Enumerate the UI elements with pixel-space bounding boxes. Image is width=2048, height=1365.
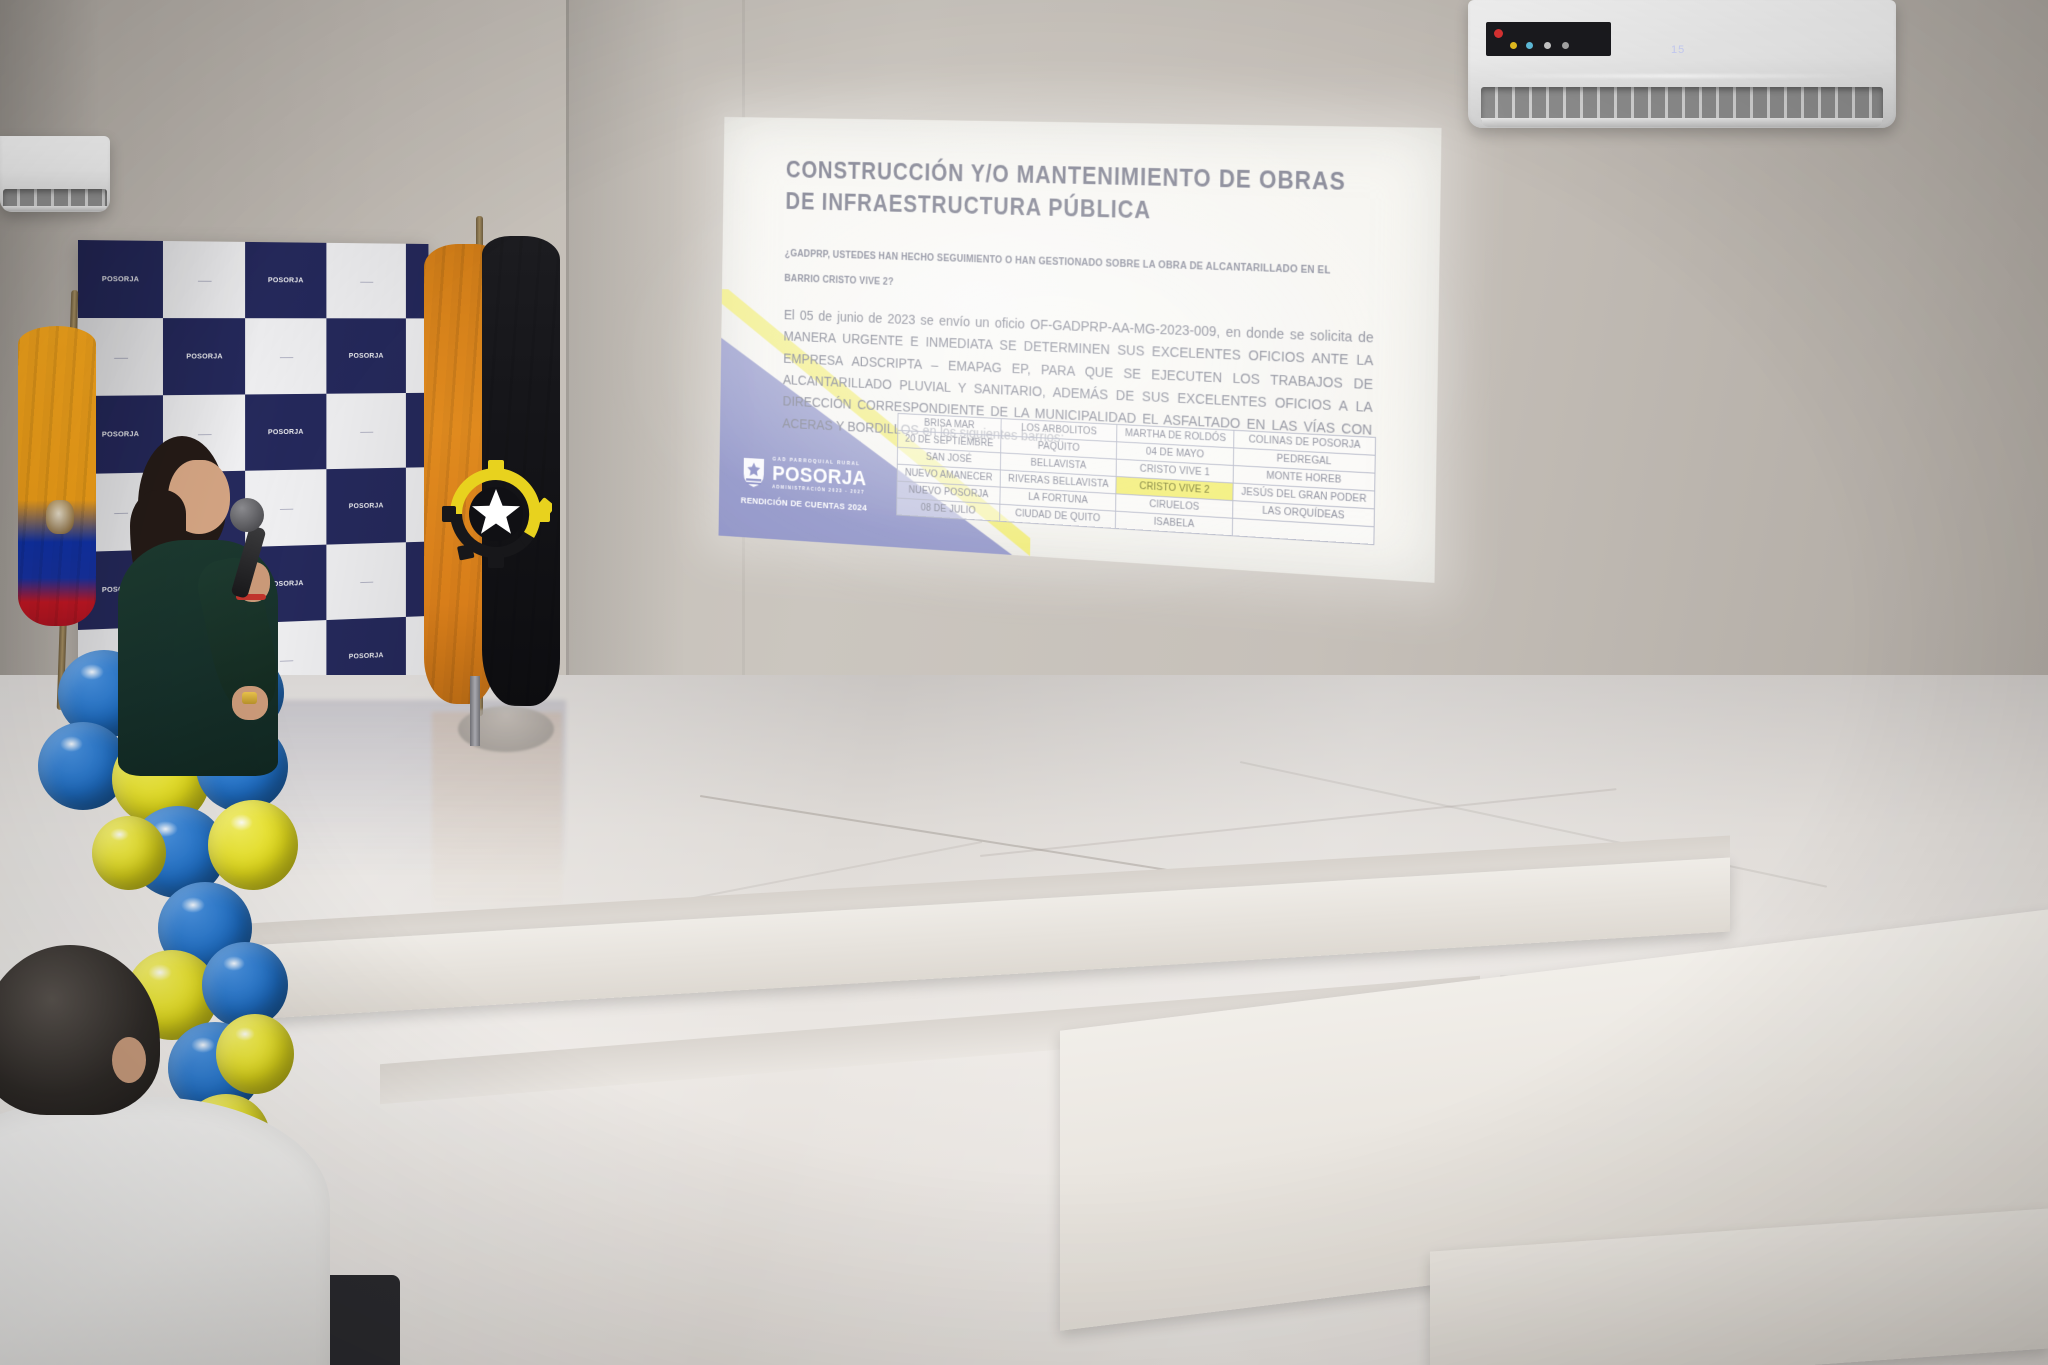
ecuador-coat-of-arms <box>46 500 74 534</box>
audience-member <box>0 945 380 1365</box>
ac-brand-badge <box>1486 22 1611 56</box>
slide-question: ¿GADPRP, USTEDES HAN HECHO SEGUIMIENTO O… <box>784 242 1333 311</box>
presentation-slide: GAD PARROQUIAL RURAL POSORJA ADMINISTRAC… <box>718 117 1441 583</box>
flag-folds <box>18 326 96 626</box>
gear-star-emblem-icon <box>440 458 552 570</box>
ac-unit-left <box>0 136 110 212</box>
posorja-flag <box>418 236 578 716</box>
projected-slide-screen: GAD PARROQUIAL RURAL POSORJA ADMINISTRAC… <box>718 117 1441 583</box>
ac-gloss-highlight <box>1485 74 1870 78</box>
ac-unit-right: 15 <box>1468 0 1896 128</box>
audience-ear <box>112 1037 146 1083</box>
slide-title: CONSTRUCCIÓN Y/O MANTENIMIENTO DE OBRAS … <box>785 155 1353 233</box>
ac-vent-lip <box>3 206 106 211</box>
balloon <box>208 800 298 890</box>
audience-shirt <box>0 1097 330 1365</box>
ac-display-indicator: 15 <box>1671 44 1685 56</box>
auditorium-scene: 15 <box>0 0 2048 1365</box>
ecuador-flag-cloth <box>18 326 96 626</box>
ecuador-flag <box>14 300 124 670</box>
ac-vent-lip <box>1481 118 1883 127</box>
speaker-ring <box>242 692 257 704</box>
audience-hair <box>0 945 160 1115</box>
speaker-person <box>112 436 302 766</box>
microphone-head <box>230 498 264 532</box>
flag-stand-shaft <box>470 676 480 746</box>
balloon <box>92 816 166 890</box>
